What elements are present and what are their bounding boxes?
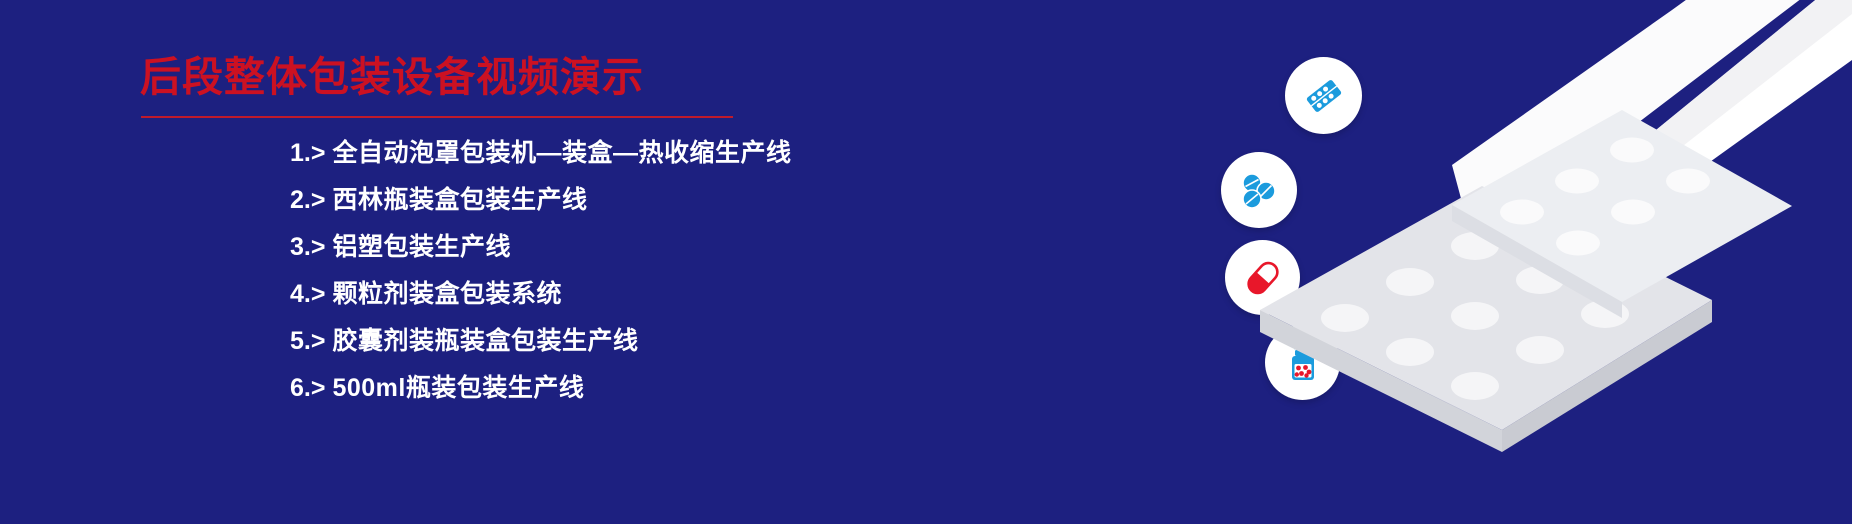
list-item-number: 4.> [290,280,325,309]
list-item-label: 500ml瓶装包装生产线 [332,368,584,404]
list-item[interactable]: 5.> 胶囊剂装瓶装盒包装生产线 [290,321,990,368]
tablets-glyph [1236,167,1282,213]
list-item[interactable]: 1.> 全自动泡罩包装机—装盒—热收缩生产线 [290,133,990,180]
capsule-glyph [1240,255,1286,301]
blister-pack-icon [1285,57,1362,134]
tablet-group-upper [1500,138,1710,256]
list-item[interactable]: 3.> 铝塑包装生产线 [290,227,990,274]
list-item-label: 颗粒剂装盒包装系统 [332,274,562,310]
list-item-label: 胶囊剂装瓶装盒包装生产线 [332,321,638,357]
text-column: 后段整体包装设备视频演示 1.> 全自动泡罩包装机—装盒—热收缩生产线 2.> … [0,0,1000,524]
list-item-number: 5.> [290,327,325,356]
blister-tray-upper [1452,110,1792,318]
list-item-label: 全自动泡罩包装机—装盒—热收缩生产线 [332,133,791,169]
carton-body [1402,0,1852,360]
list-item[interactable]: 2.> 西林瓶装盒包装生产线 [290,180,990,227]
title-underline [141,116,733,118]
list-item-label: 西林瓶装盒包装生产线 [332,180,587,216]
list-item-number: 2.> [290,186,325,215]
pill-bottle-icon [1265,325,1340,400]
carton-flap [1452,0,1852,232]
list-item-number: 3.> [290,233,325,262]
promo-banner: 后段整体包装设备视频演示 1.> 全自动泡罩包装机—装盒—热收缩生产线 2.> … [0,0,1852,524]
tablet-group-lower [1321,232,1629,400]
list-item-number: 6.> [290,374,325,403]
blister-pack-glyph [1301,73,1347,119]
list-item[interactable]: 6.> 500ml瓶装包装生产线 [290,368,990,415]
list-item-label: 铝塑包装生产线 [332,227,511,263]
tablets-icon [1221,152,1297,228]
list-item-number: 1.> [290,139,325,168]
capsule-icon [1225,240,1300,315]
pill-bottle-glyph [1281,341,1325,385]
video-list: 1.> 全自动泡罩包装机—装盒—热收缩生产线 2.> 西林瓶装盒包装生产线 3.… [290,133,990,415]
list-item[interactable]: 4.> 颗粒剂装盒包装系统 [290,274,990,321]
page-title: 后段整体包装设备视频演示 [140,43,644,103]
blister-tray [1260,186,1712,452]
